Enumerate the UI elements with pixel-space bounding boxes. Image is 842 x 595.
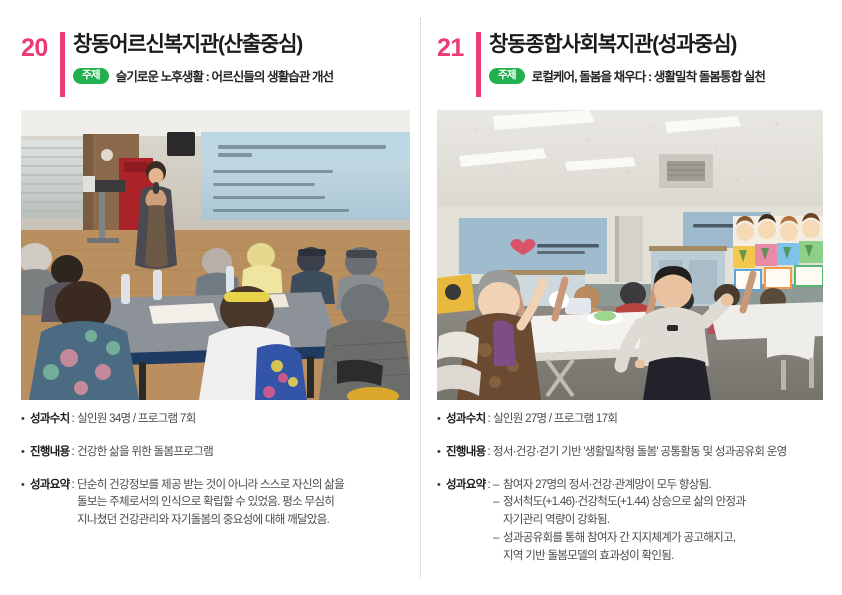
summary-sub-text: 성과공유회를 통해 참여자 간 지지체계가 공고해지고, 지역 기반 돌봄모델의… xyxy=(503,530,842,566)
metric-label: 성과수치 xyxy=(446,411,486,429)
bullet-icon: • xyxy=(21,411,30,428)
colon-separator: : xyxy=(70,444,78,462)
header-accent-bar xyxy=(60,32,65,97)
summary-sub-text: 정서척도(+1.46)·건강척도(+1.44) 상승으로 삶의 안정과 자기관리… xyxy=(503,494,842,530)
bullet-icon: • xyxy=(437,477,446,494)
card-photo-21 xyxy=(437,110,823,400)
summary-row: • 성과요약 : – 참여자 27명의 정서·건강·관계망이 모두 향상됨. –… xyxy=(437,477,842,566)
metric-row: • 성과수치 : 실인원 34명 / 프로그램 7회 xyxy=(21,411,421,429)
card-header-21: 21 창동종합사회복지관(성과중심) 주제 로컬케어, 돌봄을 채우다 : 생활… xyxy=(437,0,837,70)
card-body-21: • 성과수치 : 실인원 27명 / 프로그램 17회 • 진행내용 : 정서·… xyxy=(437,411,842,581)
bullet-icon: • xyxy=(437,411,446,428)
summary-label: 성과요약 xyxy=(30,477,70,495)
card-title: 창동어르신복지관(산출중심) xyxy=(73,33,302,56)
activity-value: 정서·건강·걷기 기반 '생활밀착형 돌봄' 공통활동 및 성과공유회 운영 xyxy=(493,444,842,462)
colon-separator: : xyxy=(486,411,494,429)
card-subtitle-row: 주제 로컬케어, 돌봄을 채우다 : 생활밀착 돌봄통합 실천 xyxy=(489,66,765,85)
card-subtitle: 로컬케어, 돌봄을 채우다 : 생활밀착 돌봄통합 실천 xyxy=(532,66,765,85)
summary-label: 성과요약 xyxy=(446,477,486,495)
summary-sub-list: – 참여자 27명의 정서·건강·관계망이 모두 향상됨. – 정서척도(+1.… xyxy=(493,477,842,566)
summary-value: 단순히 건강정보를 제공 받는 것이 아니라 스스로 자신의 삶을 돌보는 주체… xyxy=(77,477,421,530)
colon-separator: : xyxy=(70,411,78,429)
report-page: 20 창동어르신복지관(산출중심) 주제 슬기로운 노후생활 : 어르신들의 생… xyxy=(0,0,842,595)
dash-marker: – xyxy=(493,494,503,512)
summary-sub-item: – 정서척도(+1.46)·건강척도(+1.44) 상승으로 삶의 안정과 자기… xyxy=(493,494,842,530)
summary-row: • 성과요약 : 단순히 건강정보를 제공 받는 것이 아니라 스스로 자신의 … xyxy=(21,477,421,530)
dash-marker: – xyxy=(493,477,503,495)
summary-sub-item: – 참여자 27명의 정서·건강·관계망이 모두 향상됨. xyxy=(493,477,842,495)
metric-label: 성과수치 xyxy=(30,411,70,429)
card-photo-20 xyxy=(21,110,410,400)
card-title: 창동종합사회복지관(성과중심) xyxy=(489,33,736,56)
summary-sub-text: 참여자 27명의 정서·건강·관계망이 모두 향상됨. xyxy=(503,477,842,495)
summary-sub-item: – 성과공유회를 통해 참여자 간 지지체계가 공고해지고, 지역 기반 돌봄모… xyxy=(493,530,842,566)
bullet-icon: • xyxy=(21,477,30,494)
metric-row: • 성과수치 : 실인원 27명 / 프로그램 17회 xyxy=(437,411,842,429)
activity-label: 진행내용 xyxy=(446,444,486,462)
activity-row: • 진행내용 : 정서·건강·걷기 기반 '생활밀착형 돌봄' 공통활동 및 성… xyxy=(437,444,842,462)
card-subtitle-row: 주제 슬기로운 노후생활 : 어르신들의 생활습관 개선 xyxy=(73,66,333,85)
card-subtitle: 슬기로운 노후생활 : 어르신들의 생활습관 개선 xyxy=(116,66,334,85)
topic-badge: 주제 xyxy=(73,68,109,84)
bullet-icon: • xyxy=(21,444,30,461)
colon-separator: : xyxy=(486,444,494,462)
activity-label: 진행내용 xyxy=(30,444,70,462)
metric-value: 실인원 34명 / 프로그램 7회 xyxy=(77,411,421,429)
card-header-20: 20 창동어르신복지관(산출중심) 주제 슬기로운 노후생활 : 어르신들의 생… xyxy=(21,0,421,70)
photo-illustration xyxy=(437,110,823,400)
case-card-21: 21 창동종합사회복지관(성과중심) 주제 로컬케어, 돌봄을 채우다 : 생활… xyxy=(437,0,837,70)
activity-value: 건강한 삶을 위한 돌봄프로그램 xyxy=(77,444,421,462)
colon-separator: : xyxy=(70,477,78,495)
dash-marker: – xyxy=(493,530,503,548)
card-number: 21 xyxy=(437,36,464,61)
photo-illustration xyxy=(21,110,410,400)
activity-row: • 진행내용 : 건강한 삶을 위한 돌봄프로그램 xyxy=(21,444,421,462)
card-body-20: • 성과수치 : 실인원 34명 / 프로그램 7회 • 진행내용 : 건강한 … xyxy=(21,411,421,545)
topic-badge: 주제 xyxy=(489,68,525,84)
case-card-20: 20 창동어르신복지관(산출중심) 주제 슬기로운 노후생활 : 어르신들의 생… xyxy=(21,0,421,70)
metric-value: 실인원 27명 / 프로그램 17회 xyxy=(493,411,842,429)
colon-separator: : xyxy=(486,477,494,495)
header-accent-bar xyxy=(476,32,481,97)
bullet-icon: • xyxy=(437,444,446,461)
card-number: 20 xyxy=(21,36,48,61)
